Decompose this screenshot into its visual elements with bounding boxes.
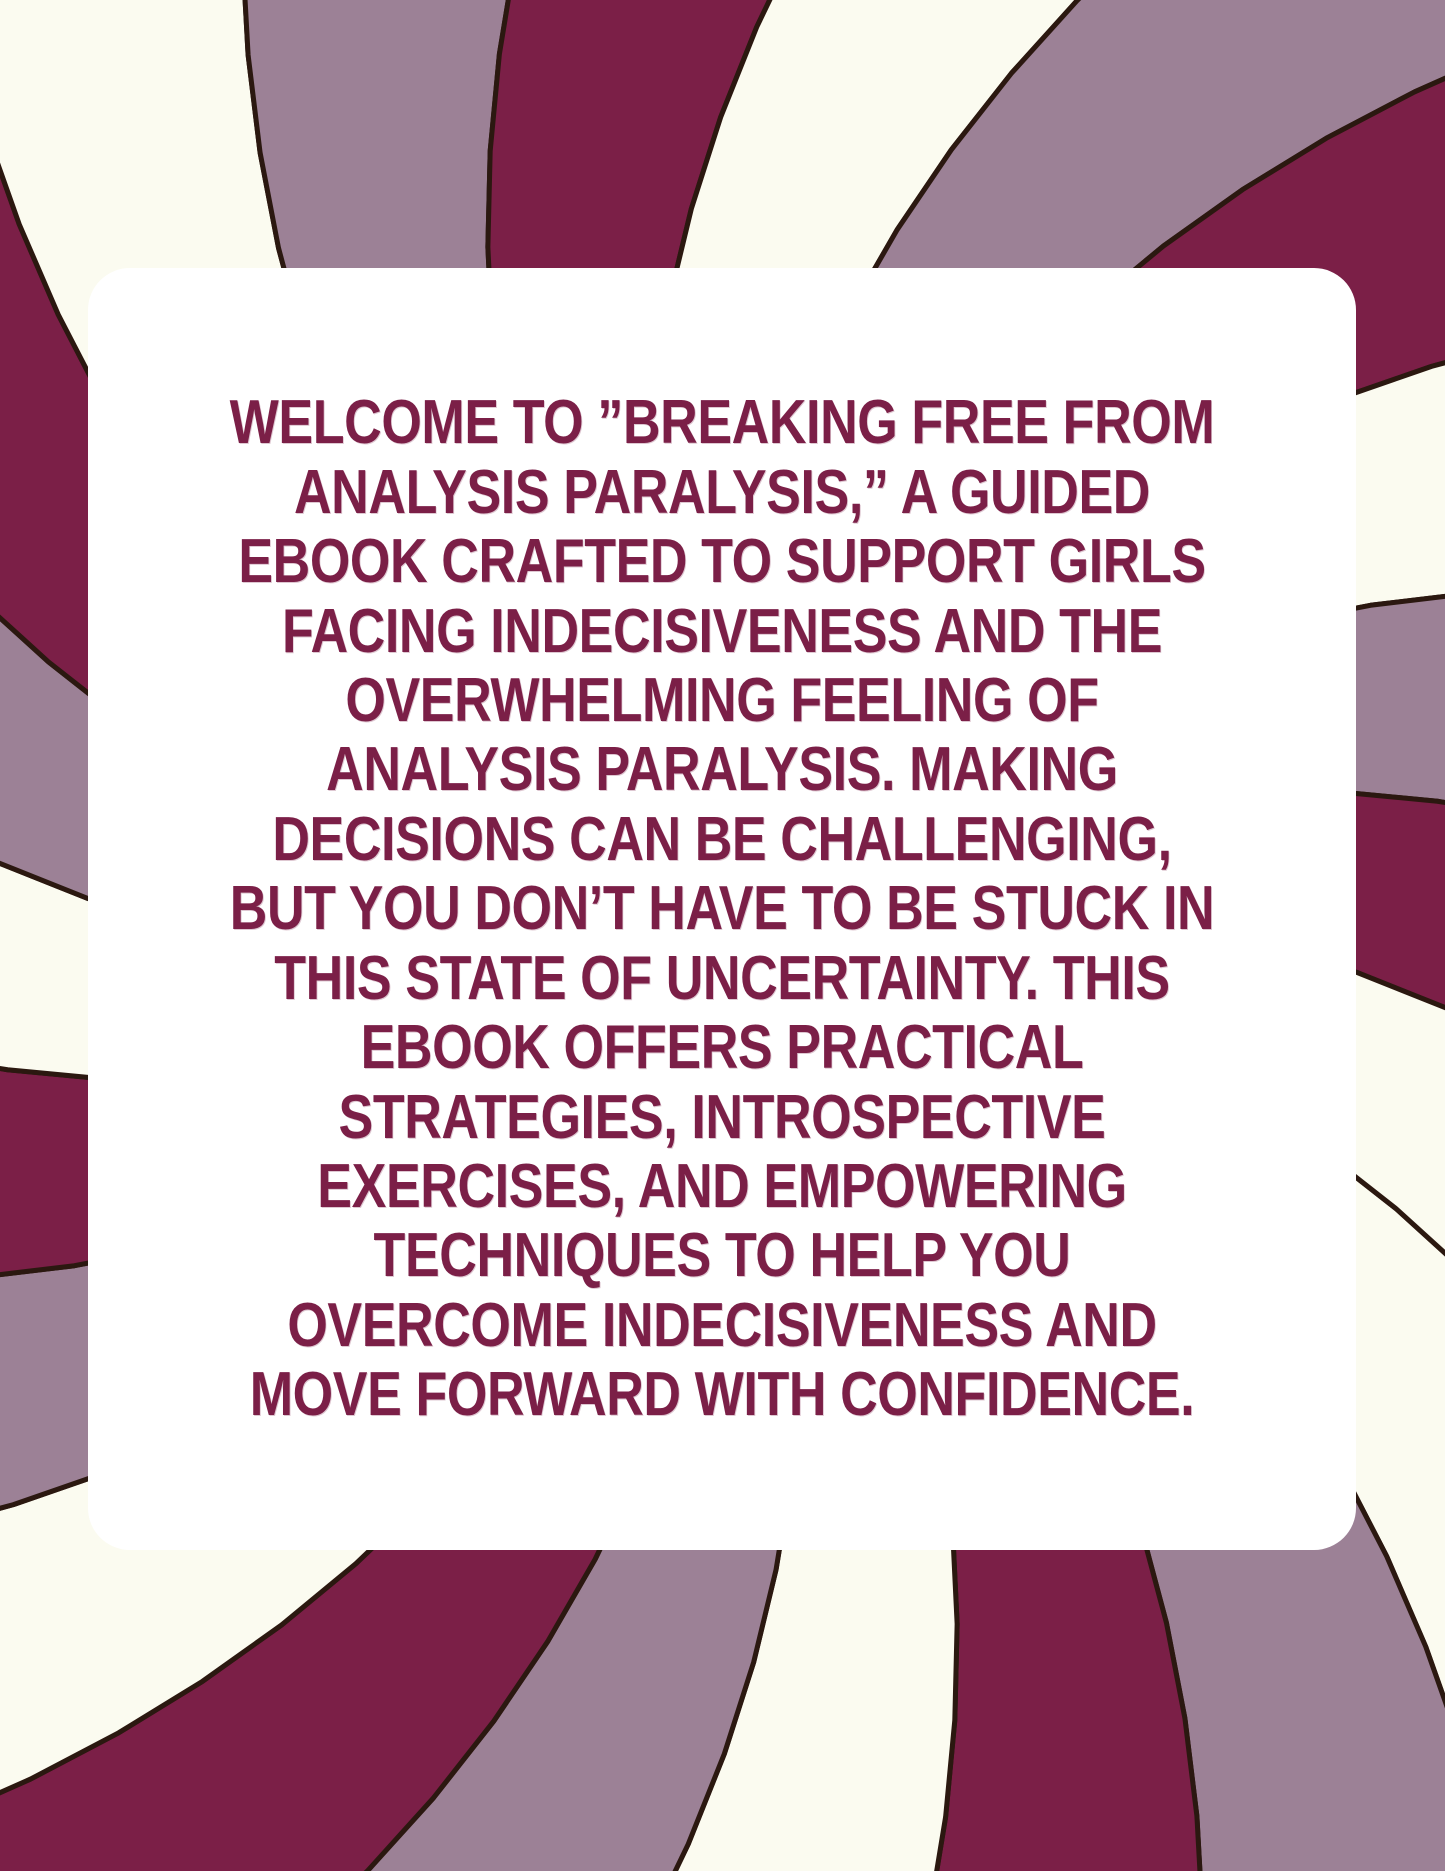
intro-text-card: WELCOME TO ”BREAKING FREE FROM ANALYSIS … xyxy=(88,268,1356,1550)
ebook-intro-poster: WELCOME TO ”BREAKING FREE FROM ANALYSIS … xyxy=(0,0,1445,1871)
intro-paragraph: WELCOME TO ”BREAKING FREE FROM ANALYSIS … xyxy=(226,388,1217,1430)
